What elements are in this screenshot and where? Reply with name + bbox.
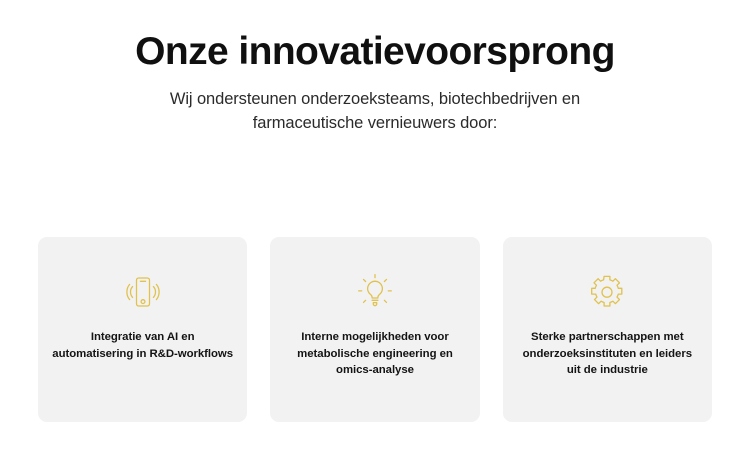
feature-card[interactable]: Sterke partnerschappen met onderzoeksins… <box>503 237 712 422</box>
feature-card[interactable]: Integratie van AI en automatisering in R… <box>38 237 247 422</box>
feature-section: Onze innovatievoorsprong Wij ondersteune… <box>0 0 750 457</box>
feature-card-text: Sterke partnerschappen met onderzoeksins… <box>517 329 698 379</box>
feature-card-list: Integratie van AI en automatisering in R… <box>38 237 712 422</box>
feature-card-text: Integratie van AI en automatisering in R… <box>52 329 233 362</box>
lightbulb-icon <box>354 271 396 313</box>
section-header: Onze innovatievoorsprong Wij ondersteune… <box>0 0 750 135</box>
vibrating-phone-icon <box>122 271 164 313</box>
feature-card[interactable]: Interne mogelijkheden voor metabolische … <box>270 237 479 422</box>
page-title: Onze innovatievoorsprong <box>115 28 635 75</box>
feature-card-text: Interne mogelijkheden voor metabolische … <box>284 329 465 379</box>
section-subtitle: Wij ondersteunen onderzoeksteams, biotec… <box>125 87 625 135</box>
gear-icon <box>586 271 628 313</box>
